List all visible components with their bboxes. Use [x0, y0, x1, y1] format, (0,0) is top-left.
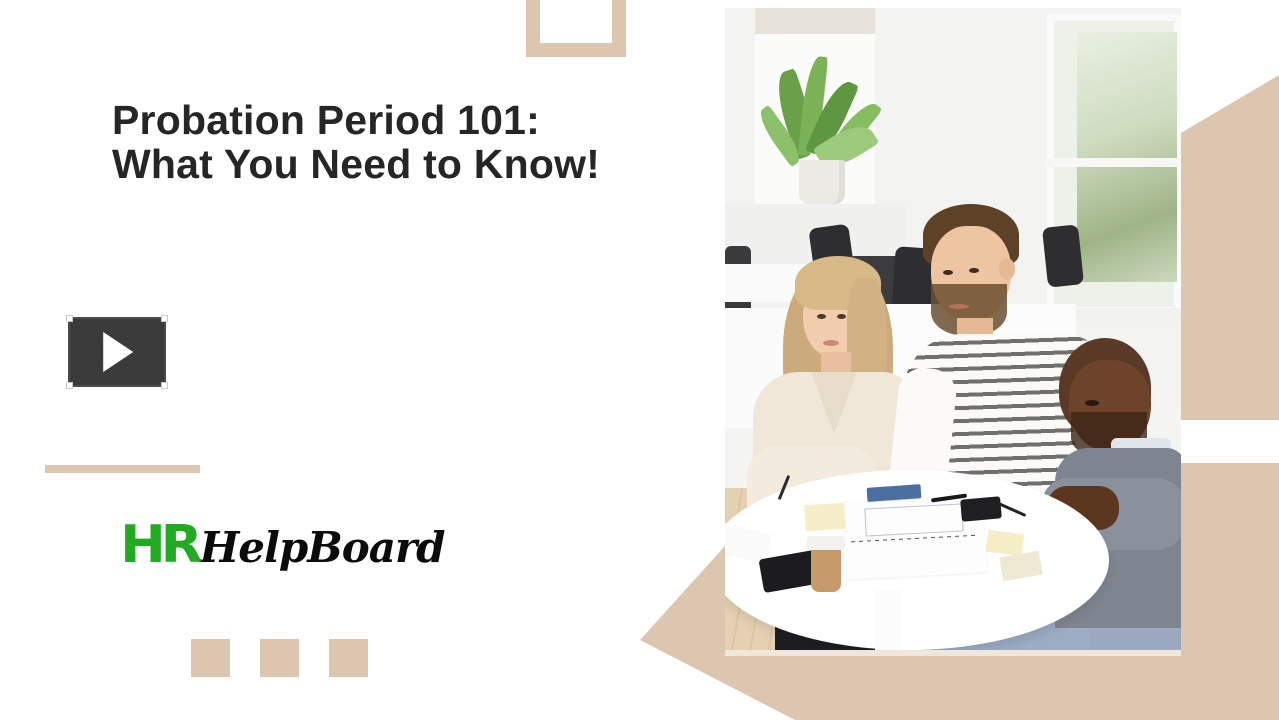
photo-wallet [960, 496, 1002, 521]
u-bracket-shape [526, 0, 626, 57]
play-icon [103, 332, 133, 372]
presentation-slide: Probation Period 101: What You Need to K… [0, 0, 1279, 720]
photo-bottom-band [725, 650, 1181, 656]
resize-handle-top-left[interactable] [66, 315, 73, 322]
logo-mark: HR [120, 519, 197, 571]
office-team-photo [725, 8, 1181, 656]
photo-person-seated-man-eye [1085, 400, 1099, 406]
accent-squares [191, 639, 368, 677]
photo-coffee-cup [811, 544, 841, 592]
photo-person-blonde-woman-mouth [823, 340, 839, 346]
play-button[interactable] [68, 317, 166, 387]
resize-handle-bottom-left[interactable] [66, 382, 73, 389]
photo-sticky-note [804, 503, 846, 532]
photo-person-blonde-woman-eye [817, 314, 826, 319]
photo-office-chair [1042, 224, 1084, 287]
photo-window-blind [755, 8, 875, 34]
photo-person-standing-man-eye [943, 270, 953, 275]
photo-window-mullion [1047, 158, 1181, 167]
accent-square-3 [329, 639, 368, 677]
page-title: Probation Period 101: What You Need to K… [112, 98, 672, 187]
photo-document-sketch [864, 503, 963, 536]
logo-wordmark: HelpBoard [200, 527, 445, 569]
photo-person-standing-man-eye [969, 268, 979, 273]
photo-window-foliage [1077, 32, 1177, 282]
accent-rule [45, 465, 200, 473]
photo-plant-pot [799, 160, 845, 204]
accent-square-2 [260, 639, 299, 677]
photo-table-leg [875, 590, 901, 656]
resize-handle-top-right[interactable] [161, 315, 168, 322]
photo-person-blonde-woman-eye [837, 314, 846, 319]
photo-coffee-cup-lid [807, 536, 845, 550]
photo-person-standing-man-mouth [949, 304, 969, 309]
resize-handle-bottom-right[interactable] [161, 382, 168, 389]
logo: HR HelpBoard [122, 519, 445, 579]
photo-person-standing-man-ear [999, 258, 1015, 280]
accent-square-1 [191, 639, 230, 677]
